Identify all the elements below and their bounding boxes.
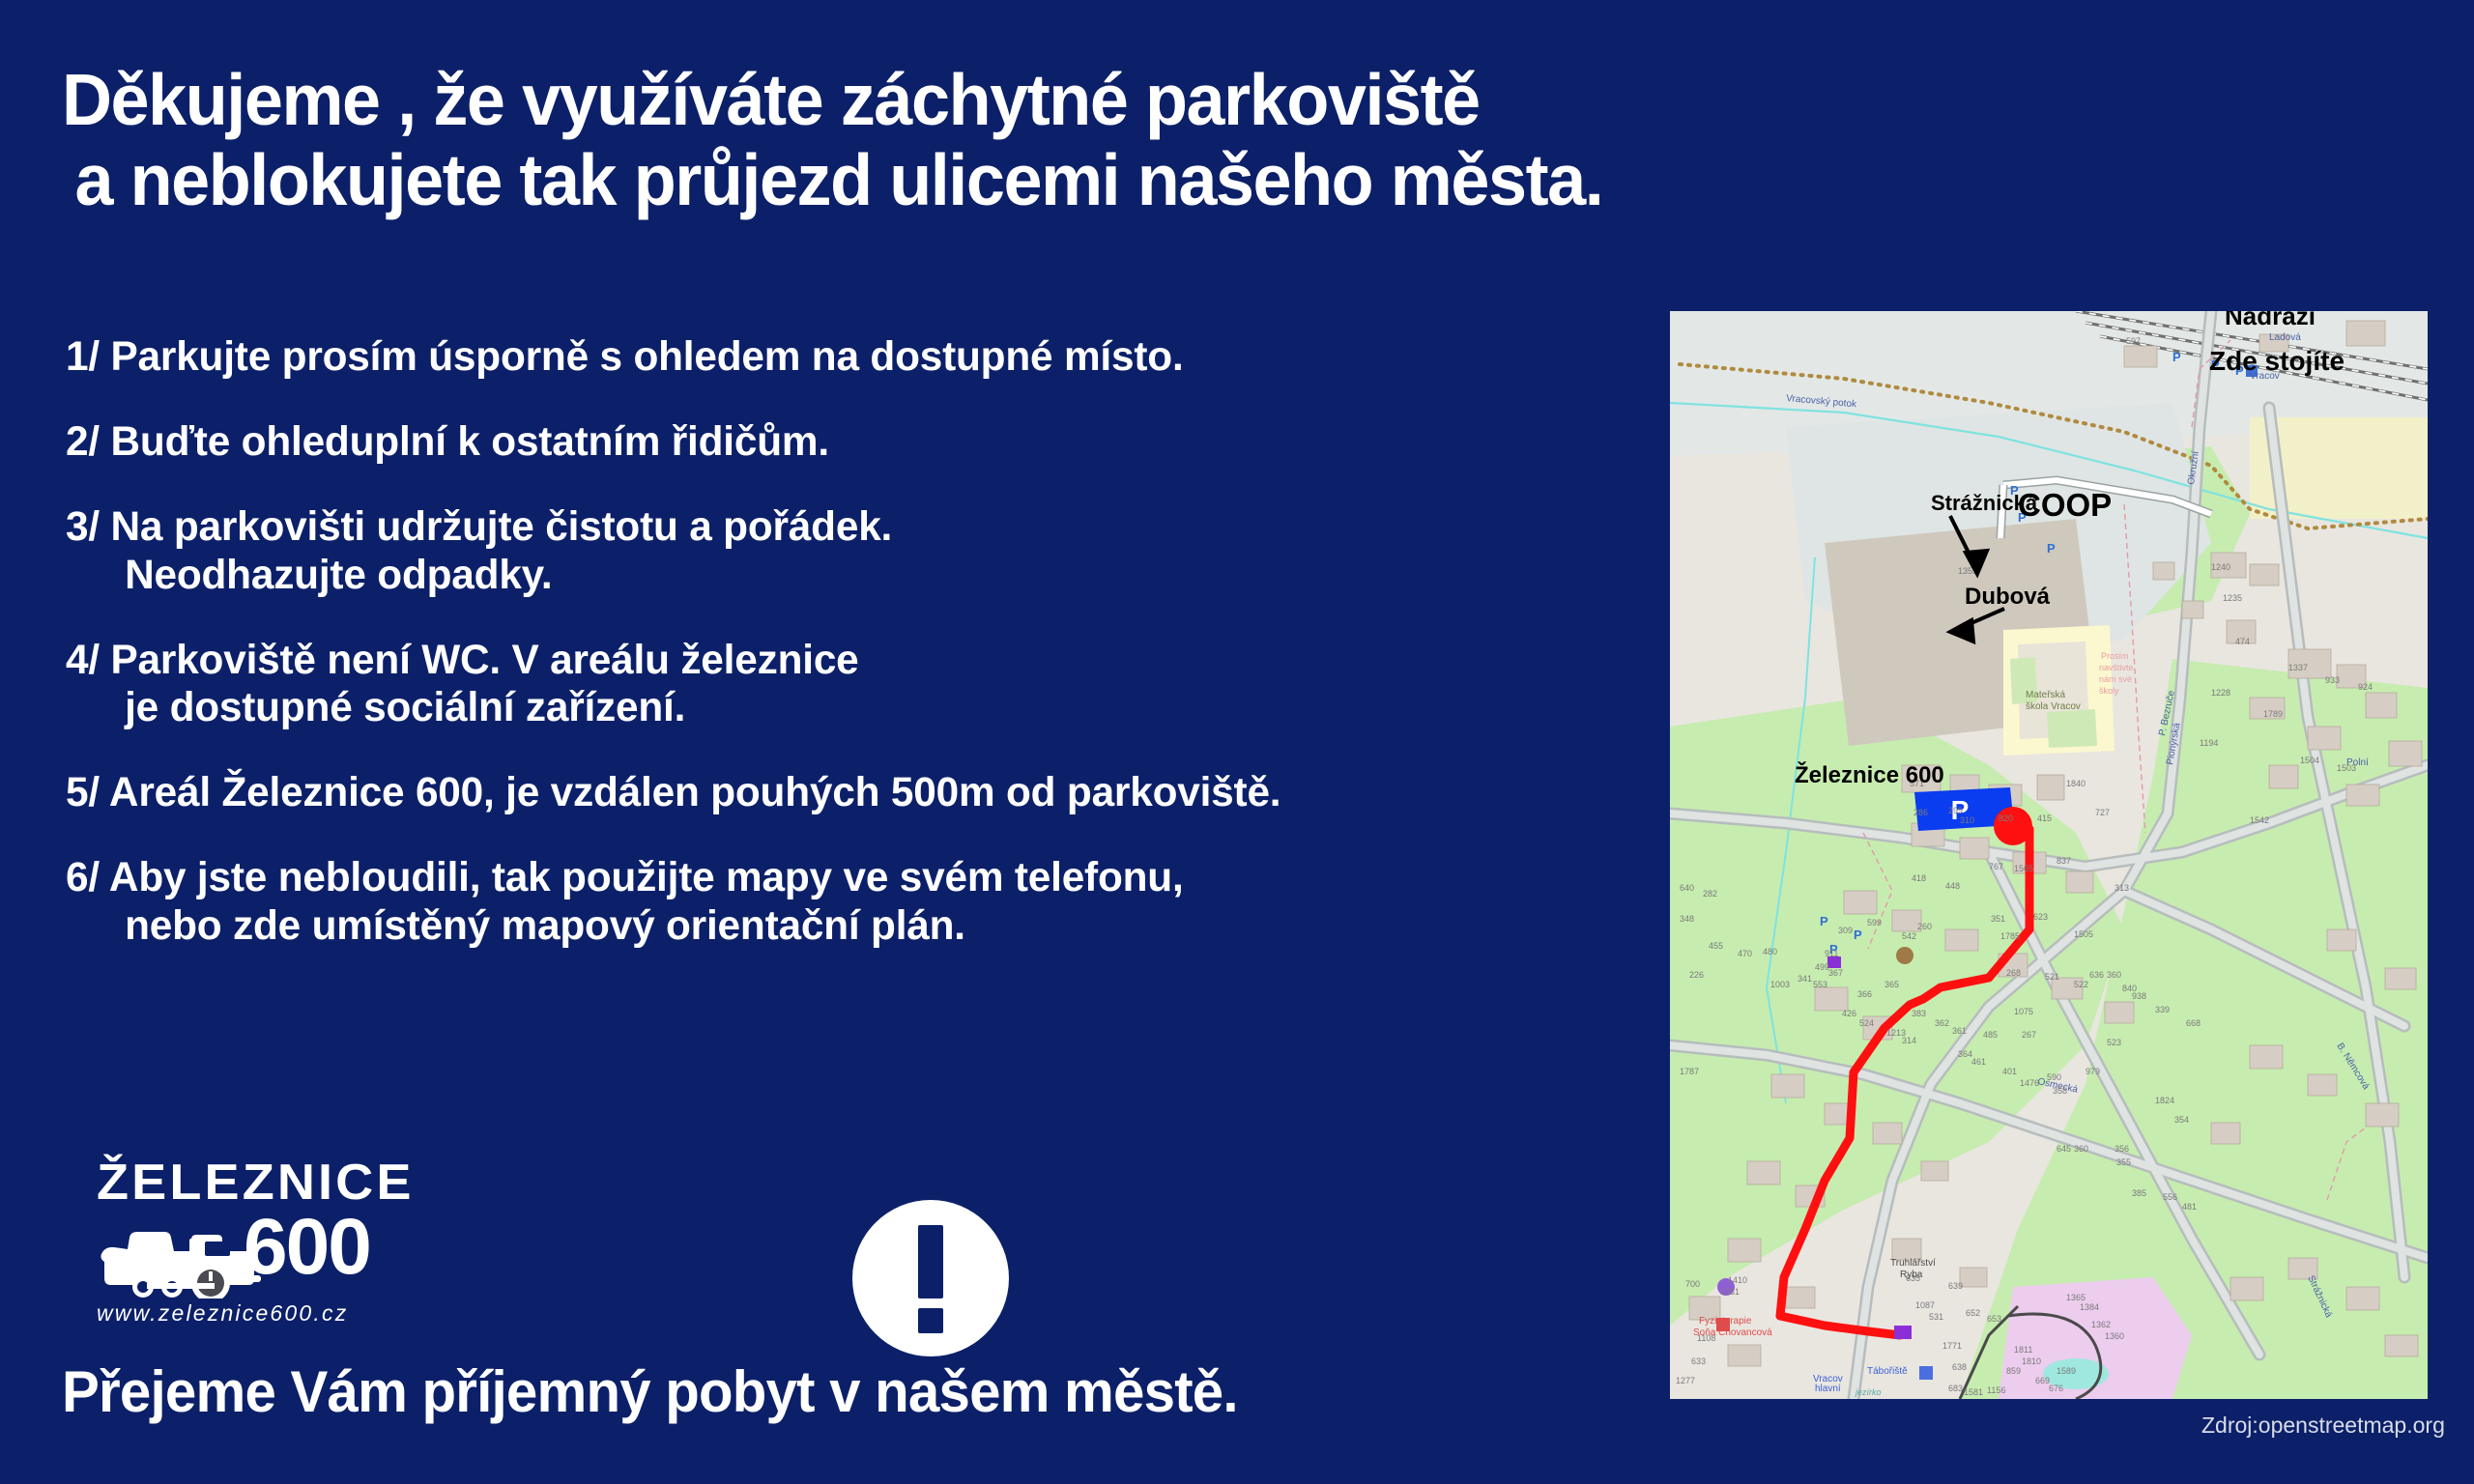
svg-text:859: 859 <box>2006 1366 2021 1376</box>
svg-text:700: 700 <box>1685 1279 1700 1289</box>
svg-text:1789: 1789 <box>2263 709 2283 719</box>
svg-text:415: 415 <box>2037 813 2052 823</box>
svg-text:727: 727 <box>2095 808 2110 817</box>
svg-text:1504: 1504 <box>2300 756 2319 765</box>
rule-3-line-1: 3/ Na parkovišti udržujte čistotu a pořá… <box>66 503 1626 552</box>
svg-text:360: 360 <box>2107 970 2121 980</box>
svg-text:1362: 1362 <box>2091 1320 2111 1329</box>
exclamation-mark-icon <box>852 1200 1009 1356</box>
zeleznice600-logo: ŽELEZNICE <box>97 1157 445 1327</box>
map-label-nadrazi: Nádraží <box>2225 311 2316 331</box>
svg-text:1787: 1787 <box>1680 1067 1699 1076</box>
map-source-attribution: Zdroj:openstreetmap.org <box>2201 1413 2445 1439</box>
svg-text:1331: 1331 <box>1720 1287 1740 1297</box>
svg-text:1075: 1075 <box>2014 1007 2033 1016</box>
svg-text:597: 597 <box>2126 336 2141 346</box>
svg-text:640: 640 <box>1680 883 1694 893</box>
svg-text:1240: 1240 <box>2211 562 2230 572</box>
svg-text:348: 348 <box>1680 914 1694 924</box>
svg-text:1194: 1194 <box>2200 738 2218 748</box>
svg-text:979: 979 <box>2086 1067 2100 1076</box>
svg-text:461: 461 <box>1971 1057 1986 1067</box>
rule-item-4: 4/ Parkoviště není WC. V areálu železnic… <box>66 637 1651 733</box>
svg-text:1476: 1476 <box>2020 1078 2039 1088</box>
map-label-dubova: Dubová <box>1965 584 2050 611</box>
svg-text:481: 481 <box>2182 1202 2197 1212</box>
page-title: Děkujeme , že využíváte záchytné parkovi… <box>62 60 2420 219</box>
rule-1-line-1: 1/ Parkujte prosím úsporně s ohledem na … <box>66 333 1626 382</box>
svg-text:jezírko: jezírko <box>1855 1387 1882 1397</box>
svg-text:521: 521 <box>2045 972 2059 982</box>
svg-text:Ladová: Ladová <box>2269 332 2301 343</box>
svg-text:360: 360 <box>2074 1144 2088 1154</box>
rule-4-line-1: 4/ Parkoviště není WC. V areálu železnic… <box>66 637 1626 685</box>
svg-text:hlavní: hlavní <box>1815 1384 1841 1394</box>
svg-text:653: 653 <box>1987 1314 2001 1324</box>
svg-text:590: 590 <box>2047 1072 2061 1082</box>
rule-3-line-2: Neodhazujte odpadky. <box>66 552 1626 600</box>
svg-text:Truhlářství: Truhlářství <box>1890 1258 1936 1269</box>
svg-text:938: 938 <box>2132 991 2146 1001</box>
svg-text:623: 623 <box>2033 912 2048 922</box>
svg-text:1355: 1355 <box>1958 566 1977 576</box>
svg-text:448: 448 <box>1945 881 1960 891</box>
svg-text:523: 523 <box>2107 1038 2121 1047</box>
svg-text:553: 553 <box>1813 980 1827 989</box>
svg-text:1087: 1087 <box>1915 1300 1935 1310</box>
rule-item-2: 2/ Buďte ohleduplní k ostatním řidičům. <box>66 418 1651 467</box>
route-map[interactable]: P PPP PPP PPP <box>1670 311 2428 1399</box>
logo-website-url: www.zeleznice600.cz <box>97 1300 445 1327</box>
svg-text:455: 455 <box>1709 941 1723 951</box>
svg-text:1785: 1785 <box>2000 931 2020 941</box>
svg-text:1337: 1337 <box>2288 663 2308 672</box>
svg-text:1365: 1365 <box>2066 1293 2086 1302</box>
headline-line-2: a neblokujete tak průjezd ulicemi našeho… <box>62 140 2325 220</box>
svg-text:268: 268 <box>2006 968 2021 978</box>
svg-text:226: 226 <box>1689 970 1704 980</box>
headline-line-1: Děkujeme , že využíváte záchytné parkovi… <box>62 60 2325 140</box>
svg-text:354: 354 <box>2174 1115 2189 1125</box>
svg-text:933: 933 <box>2325 675 2340 685</box>
svg-text:Mateřská: Mateřská <box>2026 690 2066 700</box>
exclamation-dot <box>918 1308 943 1333</box>
svg-text:310: 310 <box>1960 815 1974 825</box>
svg-text:364: 364 <box>1958 1049 1972 1059</box>
svg-text:339: 339 <box>2155 1005 2170 1014</box>
svg-text:P: P <box>2047 541 2056 556</box>
rule-item-6: 6/ Aby jste nebloudili, tak použijte map… <box>66 854 1651 951</box>
rule-2-line-1: 2/ Buďte ohleduplní k ostatním řidičům. <box>66 418 1626 467</box>
svg-text:556: 556 <box>2163 1192 2177 1202</box>
svg-text:683: 683 <box>1948 1384 1963 1393</box>
svg-text:645: 645 <box>2057 1144 2071 1154</box>
svg-text:356: 356 <box>2114 1144 2129 1154</box>
svg-text:633: 633 <box>1691 1356 1706 1366</box>
rule-5-line-1: 5/ Areál Železnice 600, je vzdálen pouhý… <box>66 769 1626 817</box>
svg-text:1410: 1410 <box>1728 1275 1747 1285</box>
svg-text:367: 367 <box>1828 968 1843 978</box>
svg-text:1360: 1360 <box>2105 1331 2124 1341</box>
svg-text:599: 599 <box>1867 918 1882 927</box>
svg-text:767: 767 <box>1989 862 2003 871</box>
svg-text:474: 474 <box>2235 637 2250 646</box>
svg-text:navštivte: navštivte <box>2099 663 2134 672</box>
rule-item-1: 1/ Parkujte prosím úsporně s ohledem na … <box>66 333 1651 382</box>
svg-text:362: 362 <box>1935 1018 1949 1028</box>
svg-text:911: 911 <box>1825 949 1838 958</box>
svg-text:309: 309 <box>1838 926 1853 935</box>
logo-wordmark: ŽELEZNICE <box>97 1157 458 1208</box>
svg-text:652: 652 <box>1966 1308 1980 1318</box>
svg-text:636: 636 <box>2089 970 2104 980</box>
rule-6-line-1: 6/ Aby jste nebloudili, tak použijte map… <box>66 854 1626 902</box>
svg-text:351: 351 <box>1991 914 2005 924</box>
svg-text:638: 638 <box>1952 1362 1967 1372</box>
svg-text:1228: 1228 <box>2211 688 2230 698</box>
logo-train-row: 600 <box>97 1212 445 1295</box>
svg-text:286: 286 <box>1913 808 1928 817</box>
svg-text:1235: 1235 <box>2223 593 2242 603</box>
svg-text:Fyzioterapie: Fyzioterapie <box>1699 1316 1752 1327</box>
svg-text:P: P <box>2172 350 2181 364</box>
svg-text:1505: 1505 <box>2074 929 2093 939</box>
svg-text:P: P <box>1854 927 1862 942</box>
map-graphic: P PPP PPP PPP <box>1670 311 2428 1399</box>
svg-text:669: 669 <box>2035 1376 2050 1385</box>
svg-text:1542: 1542 <box>2250 815 2269 825</box>
svg-text:1589: 1589 <box>2057 1366 2076 1376</box>
rule-item-5: 5/ Areál Železnice 600, je vzdálen pouhý… <box>66 769 1651 817</box>
parking-info-poster: Děkujeme , že využíváte záchytné parkovi… <box>0 0 2474 1484</box>
svg-text:924: 924 <box>2358 682 2373 692</box>
svg-text:282: 282 <box>1703 889 1717 899</box>
svg-text:1277: 1277 <box>1676 1376 1695 1385</box>
svg-text:531: 531 <box>1929 1312 1943 1322</box>
svg-text:Prosím: Prosím <box>2101 651 2129 661</box>
svg-text:škola Vracov: škola Vracov <box>2026 701 2081 712</box>
svg-text:1811: 1811 <box>2014 1345 2032 1355</box>
svg-text:418: 418 <box>1912 873 1926 883</box>
svg-text:426: 426 <box>1842 1009 1856 1018</box>
svg-text:522: 522 <box>2074 980 2088 989</box>
footer-message: Přejeme Vám příjemný pobyt v našem městě… <box>62 1358 1238 1425</box>
svg-text:313: 313 <box>2114 883 2129 893</box>
svg-text:1156: 1156 <box>1987 1385 2005 1395</box>
svg-text:nám své: nám své <box>2099 674 2132 684</box>
svg-text:385: 385 <box>2132 1188 2146 1198</box>
svg-text:1565: 1565 <box>2014 864 2033 873</box>
rule-6-line-2: nebo zde umístěný mapový orientační plán… <box>66 902 1626 951</box>
svg-text:837: 837 <box>2057 856 2071 866</box>
svg-text:361: 361 <box>1952 1026 1967 1036</box>
svg-text:1003: 1003 <box>1770 980 1790 989</box>
svg-text:260: 260 <box>1917 922 1932 931</box>
rule-item-3: 3/ Na parkovišti udržujte čistotu a pořá… <box>66 503 1651 600</box>
svg-text:314: 314 <box>1902 1036 1916 1045</box>
map-label-zeleznice600: Železnice 600 <box>1795 762 1944 789</box>
svg-text:542: 542 <box>1902 931 1916 941</box>
svg-text:1771: 1771 <box>1942 1341 1962 1351</box>
svg-text:485: 485 <box>1983 1030 1998 1040</box>
svg-text:341: 341 <box>1798 974 1812 984</box>
rule-4-line-2: je dostupné sociální zařízení. <box>66 684 1626 732</box>
svg-text:Ryba: Ryba <box>1900 1270 1923 1280</box>
svg-text:1810: 1810 <box>2022 1356 2041 1366</box>
svg-text:358: 358 <box>2053 1086 2067 1096</box>
svg-text:499: 499 <box>1815 962 1829 972</box>
svg-text:365: 365 <box>1884 980 1899 989</box>
svg-text:383: 383 <box>1912 1009 1926 1018</box>
svg-text:267: 267 <box>2022 1030 2036 1040</box>
svg-text:1384: 1384 <box>2080 1302 2099 1312</box>
svg-text:Tábořiště: Tábořiště <box>1867 1366 1908 1377</box>
svg-text:Soňa Chovancová: Soňa Chovancová <box>1693 1327 1772 1338</box>
svg-text:1824: 1824 <box>2155 1096 2174 1105</box>
svg-text:820: 820 <box>1999 813 2013 823</box>
exclamation-stem <box>918 1225 943 1298</box>
map-label-materska-skola: Mateřská škola Vracov <box>1981 311 2261 313</box>
rules-list: 1/ Parkujte prosím úsporně s ohledem na … <box>66 333 1651 987</box>
map-label-coop: COOP <box>2018 487 2112 524</box>
svg-text:401: 401 <box>2002 1067 2017 1076</box>
svg-text:668: 668 <box>2186 1018 2201 1028</box>
svg-text:470: 470 <box>1738 949 1752 958</box>
svg-text:299: 299 <box>1948 806 1963 815</box>
svg-text:676: 676 <box>2049 1384 2063 1393</box>
svg-text:355: 355 <box>2116 1157 2131 1167</box>
map-label-zde-stojite: Zde stojíte <box>2209 346 2345 377</box>
svg-text:školy: školy <box>2099 686 2119 696</box>
svg-text:639: 639 <box>1948 1281 1963 1291</box>
svg-text:524: 524 <box>1859 1018 1874 1028</box>
svg-text:1840: 1840 <box>2066 779 2086 788</box>
svg-text:1581: 1581 <box>1964 1387 1983 1397</box>
svg-text:480: 480 <box>1763 947 1777 956</box>
svg-text:P: P <box>1820 914 1828 928</box>
svg-text:366: 366 <box>1857 989 1872 999</box>
logo-number-600: 600 <box>244 1208 370 1287</box>
svg-text:1503: 1503 <box>2337 763 2356 773</box>
